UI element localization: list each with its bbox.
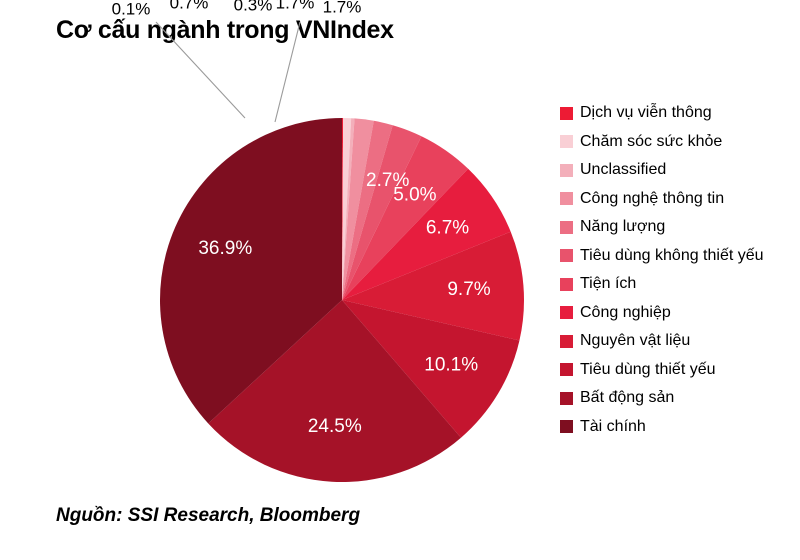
pie-slice-label: 1.7% xyxy=(323,0,362,16)
pie-slice-label: 0.7% xyxy=(170,0,209,12)
legend-swatch-icon xyxy=(560,420,573,433)
legend-swatch-icon xyxy=(560,278,573,291)
legend-item-label: Tiện ích xyxy=(580,276,636,292)
legend-item-label: Dịch vụ viễn thông xyxy=(580,105,712,121)
pie-slice-label: 9.7% xyxy=(447,279,490,300)
legend-item-label: Bất động sản xyxy=(580,390,674,406)
legend-item-label: Chăm sóc sức khỏe xyxy=(580,134,722,150)
pie-slice-label: 6.7% xyxy=(426,218,469,239)
legend-item[interactable]: Tài chính xyxy=(560,413,764,442)
label-leader-line xyxy=(275,22,300,122)
legend-item[interactable]: Năng lượng xyxy=(560,213,764,242)
legend-swatch-icon xyxy=(560,392,573,405)
legend-swatch-icon xyxy=(560,363,573,376)
legend-swatch-icon xyxy=(560,335,573,348)
legend-item-label: Công nghệ thông tin xyxy=(580,191,724,207)
leader-line-group xyxy=(156,22,300,122)
legend-item[interactable]: Công nghiệp xyxy=(560,299,764,328)
pie-slice-label: 10.1% xyxy=(424,355,478,376)
legend-item-label: Tiêu dùng không thiết yếu xyxy=(580,248,764,264)
pie-slice-label: 1.7% xyxy=(276,0,315,12)
pie-slice-label: 0.1% xyxy=(112,0,151,18)
legend-swatch-icon xyxy=(560,221,573,234)
pie-slice-label: 36.9% xyxy=(198,238,252,259)
legend-item-label: Tài chính xyxy=(580,419,646,435)
label-leader-line xyxy=(156,22,245,118)
pie-chart: 0.1%0.7%0.3%1.7%1.7%2.7%5.0%6.7%9.7%10.1… xyxy=(0,0,540,520)
legend-swatch-icon xyxy=(560,164,573,177)
source-note: Nguồn: SSI Research, Bloomberg xyxy=(56,505,360,527)
legend-item-label: Tiêu dùng thiết yếu xyxy=(580,362,716,378)
legend-item[interactable]: Tiện ích xyxy=(560,270,764,299)
pie-slice-label: 5.0% xyxy=(393,185,436,206)
chart-legend: Dịch vụ viễn thôngChăm sóc sức khỏeUncla… xyxy=(560,99,764,441)
legend-swatch-icon xyxy=(560,306,573,319)
legend-item[interactable]: Bất động sản xyxy=(560,384,764,413)
legend-item[interactable]: Tiêu dùng thiết yếu xyxy=(560,356,764,385)
legend-item-label: Công nghiệp xyxy=(580,305,671,321)
legend-swatch-icon xyxy=(560,249,573,262)
legend-item-label: Năng lượng xyxy=(580,219,665,235)
legend-item[interactable]: Tiêu dùng không thiết yếu xyxy=(560,242,764,271)
legend-swatch-icon xyxy=(560,107,573,120)
legend-item[interactable]: Dịch vụ viễn thông xyxy=(560,99,764,128)
legend-item[interactable]: Công nghệ thông tin xyxy=(560,185,764,214)
pie-chart-svg: 0.1%0.7%0.3%1.7%1.7%2.7%5.0%6.7%9.7%10.1… xyxy=(0,0,540,520)
legend-swatch-icon xyxy=(560,135,573,148)
pie-slice-label: 24.5% xyxy=(308,416,362,437)
legend-item-label: Nguyên vật liệu xyxy=(580,333,690,349)
legend-item-label: Unclassified xyxy=(580,162,666,178)
legend-item[interactable]: Unclassified xyxy=(560,156,764,185)
legend-swatch-icon xyxy=(560,192,573,205)
legend-item[interactable]: Nguyên vật liệu xyxy=(560,327,764,356)
pie-slice-label: 0.3% xyxy=(234,0,273,14)
legend-item[interactable]: Chăm sóc sức khỏe xyxy=(560,128,764,157)
